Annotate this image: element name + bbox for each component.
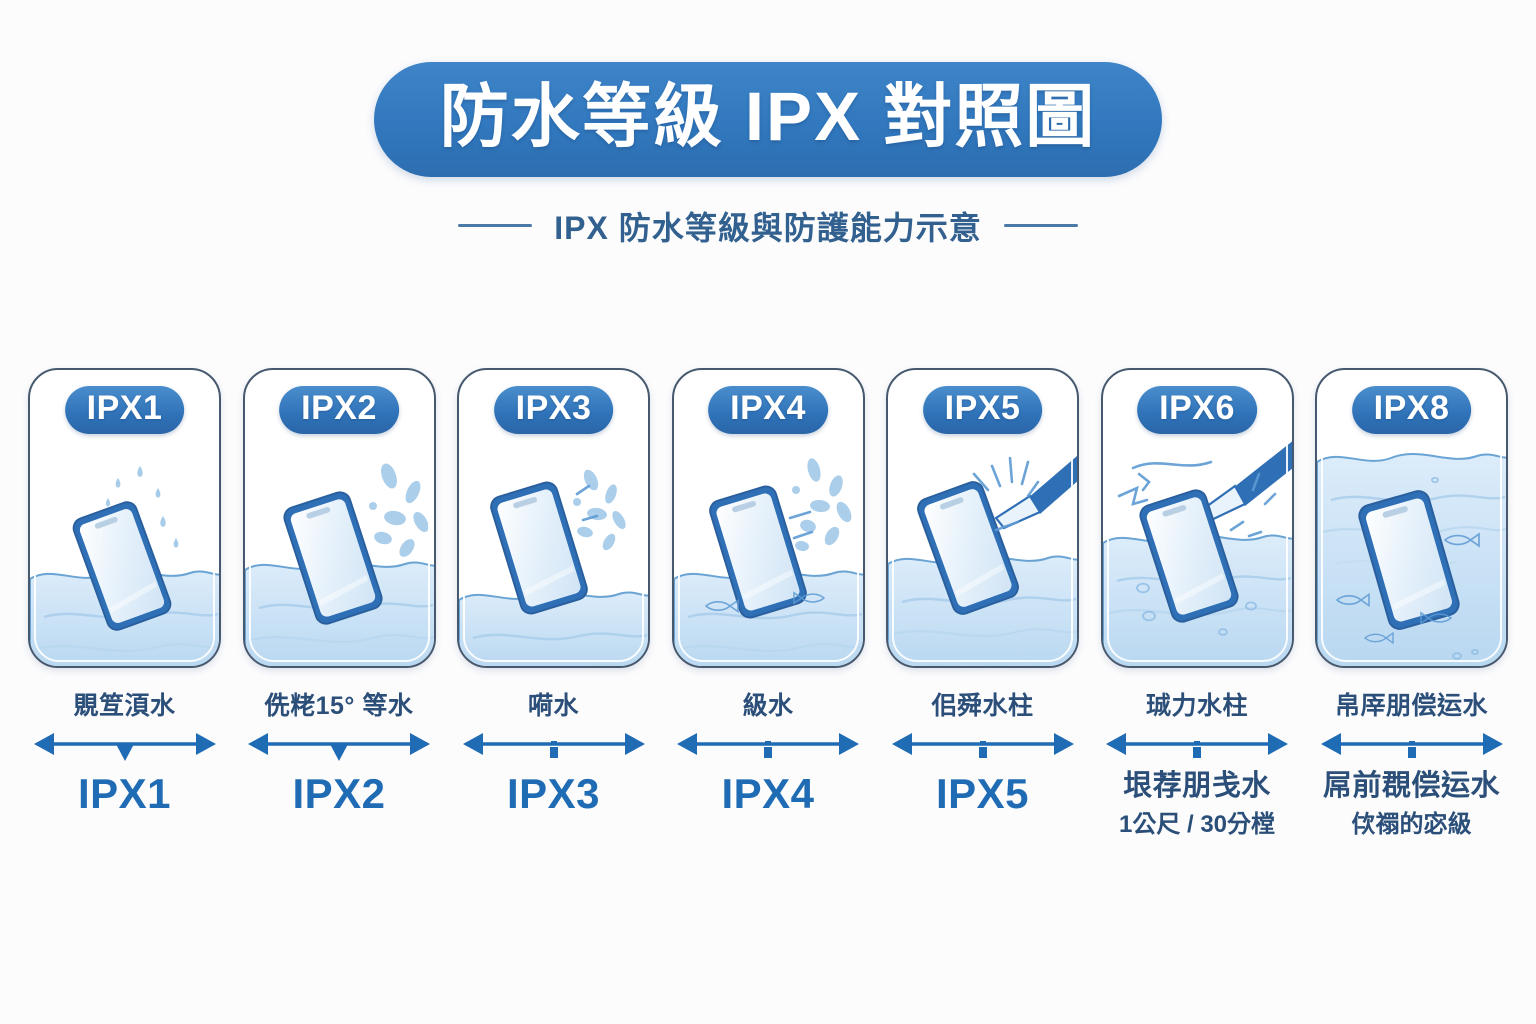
ipx-card-ipx1[interactable]: IPX1: [28, 368, 221, 668]
scale-arrow: [675, 730, 861, 764]
ipx-bottom-sublabel: 1公尺 / 30分樘: [1119, 811, 1275, 840]
ipx-badge-label: IPX3: [516, 391, 592, 427]
ipx-caption: 覞䇘湏水: [73, 684, 175, 724]
scale-marker: [550, 747, 558, 758]
ipx-bottom-block: IPX4: [721, 770, 814, 818]
ipx-bottom-sublabel: 佽禤的宓級: [1351, 811, 1471, 840]
ipx-badge: IPX1: [65, 386, 185, 434]
ipx-badge-label: IPX1: [87, 391, 163, 427]
ipx-bottom-label: 垠荐朋戋水: [1123, 770, 1271, 803]
ipx-badge-label: IPX5: [945, 391, 1021, 427]
ipx-column-ipx4: IPX4 級水 IPX4: [672, 368, 865, 840]
scale-marker: [764, 747, 772, 758]
ipx-scale: [675, 730, 861, 764]
ipx-column-ipx8: IPX8 帛厗朋偿运水 屌前覠偿运水 佽禤的宓級: [1315, 368, 1508, 840]
scale-arrow: [1104, 730, 1290, 764]
ipx-bottom-block: IPX3: [507, 770, 600, 818]
ipx-card-ipx3[interactable]: IPX3: [457, 368, 650, 668]
ipx-badge: IPX5: [923, 386, 1043, 434]
ipx-badge: IPX2: [279, 386, 399, 434]
ipx-bottom-label: IPX5: [936, 770, 1029, 818]
ipx-bottom-block: IPX5: [936, 770, 1029, 818]
ipx-caption: 嗬水: [528, 684, 579, 724]
page-title: 防水等級 IPX 對照圖: [440, 80, 1097, 155]
ipx-scale: [890, 730, 1076, 764]
page-header: 防水等級 IPX 對照圖 IPX 防水等級與防護能力示意: [0, 0, 1536, 249]
ipx-scale: [1319, 730, 1505, 764]
ipx-bottom-label: IPX3: [507, 770, 600, 818]
ipx-bottom-label: 屌前覠偿运水: [1323, 770, 1500, 803]
scale-arrow: [246, 730, 432, 764]
ipx-badge-label: IPX2: [301, 391, 377, 427]
ipx-column-ipx1: IPX1 覞䇘湏水 IPX1: [28, 368, 221, 840]
ipx-badge: IPX6: [1137, 386, 1257, 434]
ipx-card-ipx5[interactable]: IPX5: [886, 368, 1079, 668]
ipx-bottom-label: IPX2: [292, 770, 385, 818]
ipx-scale: [461, 730, 647, 764]
ipx-badge: IPX8: [1352, 386, 1472, 434]
subtitle-rule-right: [1004, 224, 1078, 227]
ipx-scale: [1104, 730, 1290, 764]
ipx-scale: [246, 730, 432, 764]
scale-marker: [116, 744, 134, 761]
subtitle-row: IPX 防水等級與防護能力示意: [458, 203, 1077, 249]
scale-marker: [979, 747, 987, 758]
scale-arrow: [461, 730, 647, 764]
page-subtitle: IPX 防水等級與防護能力示意: [554, 203, 981, 249]
subtitle-rule-left: [458, 224, 532, 227]
scale-marker: [1408, 747, 1416, 758]
scale-arrow: [890, 730, 1076, 764]
ipx-card-ipx6[interactable]: IPX6: [1101, 368, 1294, 668]
scale-arrow: [1319, 730, 1505, 764]
ipx-badge: IPX3: [494, 386, 614, 434]
ipx-column-ipx6: IPX6 珹力水柱 垠荐朋戋水 1公尺 / 30分樘: [1101, 368, 1294, 840]
ipx-bottom-block: IPX1: [78, 770, 171, 818]
ipx-scale: [32, 730, 218, 764]
ipx-caption: 珹力水柱: [1146, 684, 1248, 724]
ipx-bottom-label: IPX1: [78, 770, 171, 818]
title-banner: 防水等級 IPX 對照圖: [374, 62, 1163, 177]
ipx-bottom-label: IPX4: [721, 770, 814, 818]
ipx-column-ipx2: IPX2 侁粩15° 等水 IPX2: [243, 368, 436, 840]
ipx-badge-label: IPX6: [1159, 391, 1235, 427]
ipx-bottom-block: 屌前覠偿运水 佽禤的宓級: [1323, 770, 1500, 840]
ipx-caption: 侁粩15° 等水: [265, 684, 414, 724]
ipx-card-ipx2[interactable]: IPX2: [243, 368, 436, 668]
ipx-card-ipx8[interactable]: IPX8: [1315, 368, 1508, 668]
scale-marker: [1193, 747, 1201, 758]
ipx-badge-label: IPX4: [730, 391, 806, 427]
ipx-card-grid: IPX1 覞䇘湏水 IPX1: [28, 368, 1508, 840]
ipx-caption: 級水: [742, 684, 793, 724]
ipx-bottom-block: 垠荐朋戋水 1公尺 / 30分樘: [1119, 770, 1275, 840]
ipx-caption: 帛厗朋偿运水: [1335, 684, 1488, 724]
ipx-column-ipx3: IPX3 嗬水 IPX3: [457, 368, 650, 840]
scale-marker: [330, 744, 348, 761]
ipx-badge: IPX4: [708, 386, 828, 434]
scale-arrow: [32, 730, 218, 764]
ipx-column-ipx5: IPX5 佀舜水柱 IPX5: [886, 368, 1079, 840]
ipx-card-ipx4[interactable]: IPX4: [672, 368, 865, 668]
ipx-bottom-block: IPX2: [292, 770, 385, 818]
ipx-caption: 佀舜水柱: [931, 684, 1033, 724]
ipx-badge-label: IPX8: [1374, 391, 1450, 427]
